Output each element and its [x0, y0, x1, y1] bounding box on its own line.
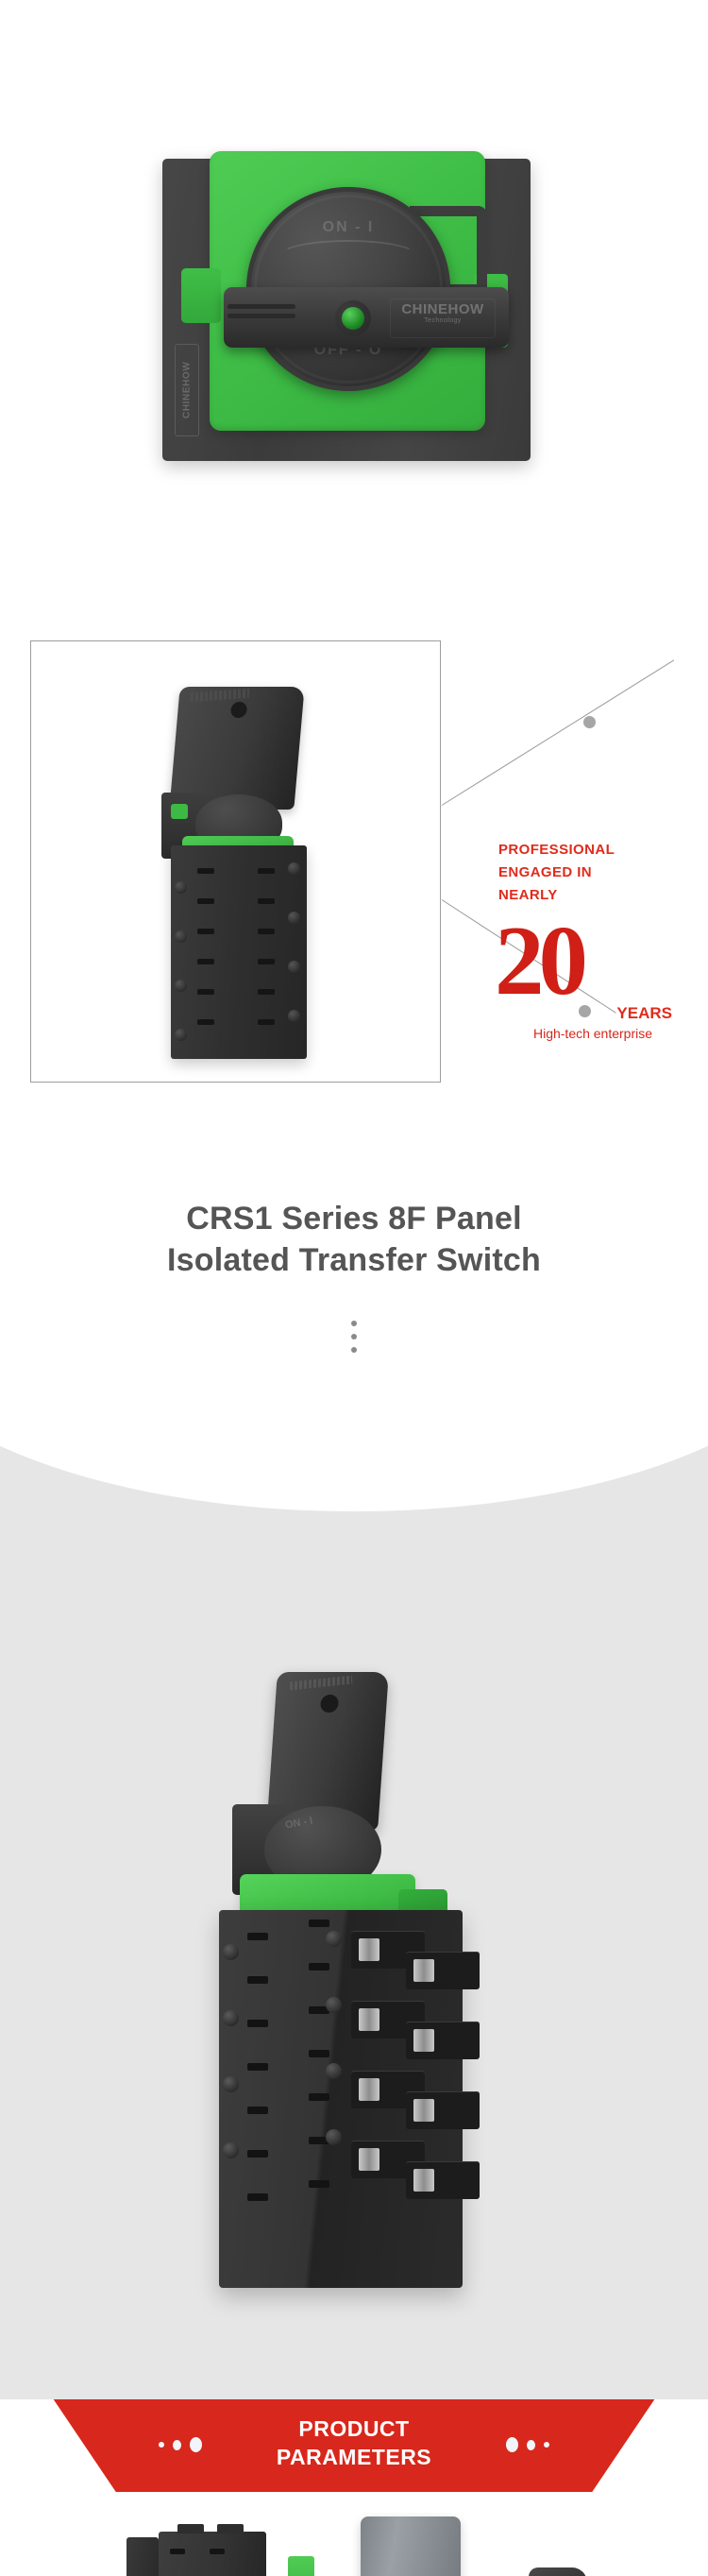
- large-lever-lock-hole: [320, 1695, 339, 1713]
- banner-heading-line1: PRODUCT: [0, 2414, 708, 2443]
- product-title-section: CRS1 Series 8F Panel Isolated Transfer S…: [0, 1152, 708, 1426]
- body-slot: [258, 989, 275, 995]
- years-callout-block: PROFESSIONAL ENGAGED IN NEARLY 20 YEARS …: [498, 839, 687, 1041]
- body-slot: [258, 868, 275, 874]
- body-slot: [197, 929, 214, 934]
- exploded-part-green-flange: [288, 2556, 314, 2576]
- brand-name: CHINEHOW: [390, 301, 496, 317]
- body-screw: [288, 1010, 300, 1022]
- status-indicator: [335, 300, 371, 336]
- body-screw: [175, 881, 187, 894]
- body-slot: [247, 2150, 268, 2158]
- terminal-block: [406, 2091, 480, 2129]
- side-bracket-green-detail: [171, 804, 188, 819]
- terminal-screw: [413, 2029, 434, 2052]
- banner-heading: PRODUCT PARAMETERS: [0, 2414, 708, 2471]
- body-screw: [223, 2142, 239, 2158]
- years-subtitle: High-tech enterprise: [498, 1026, 687, 1041]
- large-lever-embossed-text: [290, 1676, 352, 1691]
- body-slot: [309, 2093, 329, 2101]
- callout-line-top: [442, 659, 674, 806]
- exploded-body-top-tab: [177, 2524, 204, 2533]
- terminal-block: [406, 1952, 480, 1989]
- exploded-part-door-panel: [361, 2516, 461, 2576]
- side-lever-handle: [169, 687, 304, 810]
- body-slot: [247, 1933, 268, 1940]
- body-screw: [288, 961, 300, 973]
- body-slot: [247, 2107, 268, 2114]
- divider-dot: [351, 1334, 357, 1339]
- page-title-line2: Isolated Transfer Switch: [0, 1239, 708, 1281]
- callout-dot-top: [583, 716, 596, 728]
- body-slot: [197, 1019, 214, 1025]
- side-switch-body: [171, 845, 307, 1059]
- plate-brand-text: CHINEHOW: [182, 362, 193, 418]
- large-switch-body: [219, 1910, 463, 2288]
- body-screw: [223, 2010, 239, 2026]
- body-screw: [223, 2076, 239, 2092]
- terminal-block: [406, 2161, 480, 2199]
- body-screw: [175, 980, 187, 992]
- side-lever-embossed-text: [191, 689, 249, 702]
- brand-subtitle: Technology: [390, 317, 496, 324]
- lever-brand-plate: CHINEHOW Technology: [390, 299, 496, 338]
- body-screw: [288, 912, 300, 924]
- body-slot: [247, 1976, 268, 1984]
- page-title-line1: CRS1 Series 8F Panel: [0, 1198, 708, 1239]
- body-slot: [258, 959, 275, 964]
- status-indicator-light: [342, 307, 364, 330]
- exploded-view-section: Switch the ontology Door panel Install t…: [0, 2492, 708, 2576]
- switch-front-view-image: CHINEHOW ON - I OFF - O CHINEHOW T: [162, 151, 531, 472]
- body-slot: [309, 2180, 329, 2188]
- terminal-screw: [413, 1959, 434, 1982]
- page-title: CRS1 Series 8F Panel Isolated Transfer S…: [0, 1198, 708, 1281]
- body-slot: [197, 989, 214, 995]
- terminal-screw: [359, 2078, 379, 2101]
- body-slot: [197, 868, 214, 874]
- body-slot: [247, 2193, 268, 2201]
- hero-section: CHINEHOW ON - I OFF - O CHINEHOW T: [0, 0, 708, 623]
- exploded-part-switch-knob: [529, 2567, 587, 2576]
- body-screw: [326, 2063, 342, 2079]
- body-screw: [223, 1944, 239, 1960]
- body-screw: [326, 1997, 342, 2013]
- body-slot: [309, 2050, 329, 2057]
- terminal-screw: [413, 2099, 434, 2122]
- framed-product-photo: [30, 640, 441, 1083]
- body-screw: [175, 1029, 187, 1041]
- product-detail-page: CHINEHOW ON - I OFF - O CHINEHOW T: [0, 0, 708, 2576]
- years-headline-line2: ENGAGED IN: [498, 862, 687, 884]
- dial-on-label: ON - I: [246, 219, 450, 236]
- years-headline-line1: PROFESSIONAL: [498, 839, 687, 862]
- switch-side-view-image: [154, 687, 326, 1065]
- body-screw: [326, 2129, 342, 2145]
- body-slot: [258, 898, 275, 904]
- exploded-body-slot: [170, 2549, 185, 2554]
- grey-showcase-section: ON - I: [0, 1426, 708, 2399]
- body-screw: [326, 1931, 342, 1947]
- divider-dot: [351, 1347, 357, 1353]
- body-slot: [197, 959, 214, 964]
- body-screw: [175, 930, 187, 943]
- grey-section-top-arc: [0, 1426, 708, 1511]
- terminal-screw: [359, 1938, 379, 1961]
- title-divider-dots: [351, 1321, 357, 1360]
- body-slot: [258, 929, 275, 934]
- body-slot: [309, 1919, 329, 1927]
- body-screw: [288, 862, 300, 875]
- body-slot: [247, 2063, 268, 2071]
- terminal-screw: [413, 2169, 434, 2192]
- switch-hero-large-image: ON - I: [219, 1672, 489, 2333]
- body-slot: [247, 2020, 268, 2027]
- terminal-screw: [359, 2148, 379, 2171]
- exploded-body-top-tab: [217, 2524, 244, 2533]
- banner-heading-line2: PARAMETERS: [0, 2443, 708, 2471]
- body-slot: [309, 1963, 329, 1970]
- green-left-tab: [181, 268, 221, 323]
- plate-brand-logo: CHINEHOW: [175, 344, 199, 436]
- large-knob-label: ON - I: [284, 1816, 313, 1832]
- switch-lever-handle: CHINEHOW Technology: [224, 287, 509, 348]
- terminal-screw: [359, 2008, 379, 2031]
- years-headline: PROFESSIONAL ENGAGED IN NEARLY: [498, 839, 687, 907]
- body-slot: [258, 1019, 275, 1025]
- dial-on-arrow-arc: [278, 240, 418, 272]
- body-slot: [197, 898, 214, 904]
- exploded-body-slot: [210, 2549, 225, 2554]
- product-parameters-banner: PRODUCT PARAMETERS: [0, 2399, 708, 2492]
- exploded-part-switch-body-rear: [126, 2537, 159, 2576]
- years-headline-line3: NEARLY: [498, 884, 687, 907]
- terminal-block: [406, 2022, 480, 2059]
- exploded-part-switch-ontology: [159, 2532, 266, 2576]
- side-view-section: PROFESSIONAL ENGAGED IN NEARLY 20 YEARS …: [0, 623, 708, 1152]
- side-lever-lock-hole: [230, 702, 247, 718]
- years-number: 20: [495, 911, 687, 1010]
- divider-dot: [351, 1321, 357, 1326]
